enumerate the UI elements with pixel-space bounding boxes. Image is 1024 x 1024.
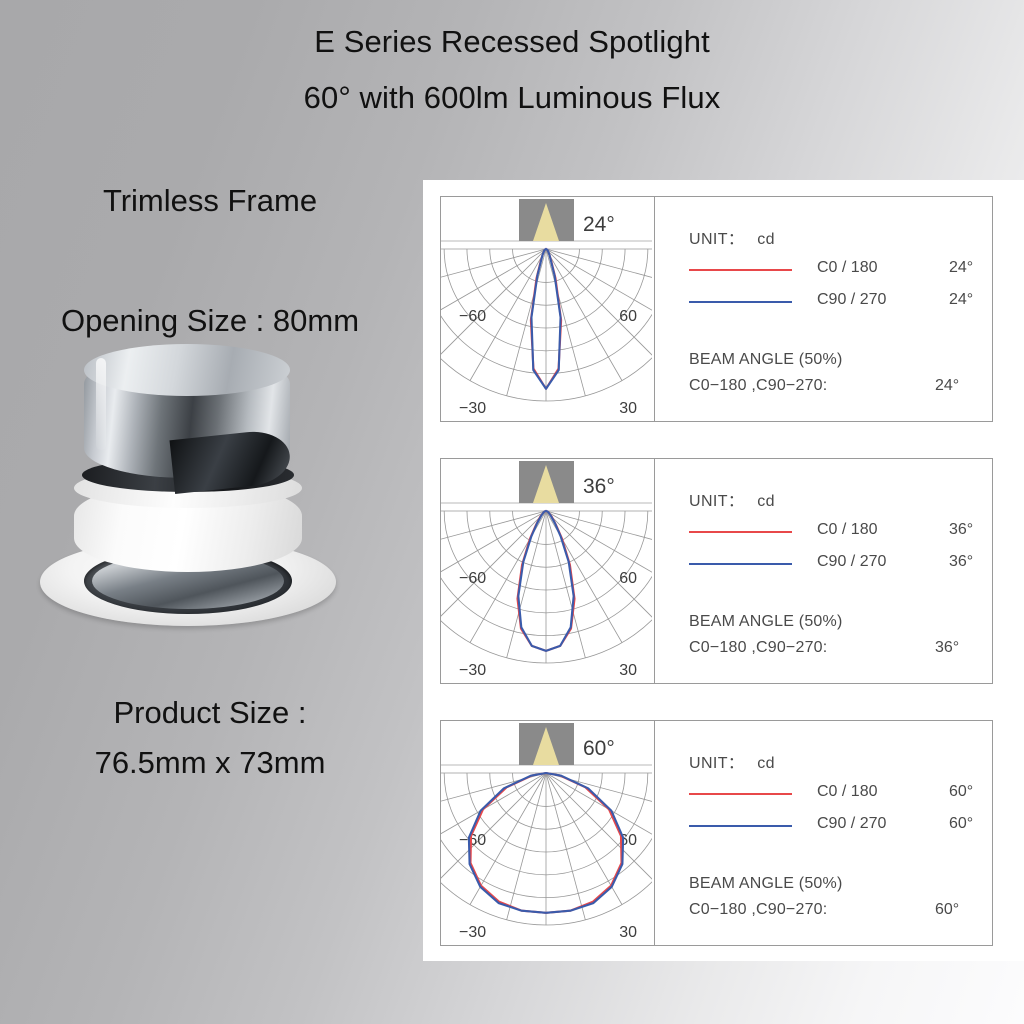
beam-angle-value: 60° [935,901,959,919]
unit-text: UNIT： [689,493,744,510]
angle-tick-label: 60 [619,308,637,325]
legend-swatch-c90-icon [689,563,792,565]
legend-swatch-c0-icon [689,531,792,533]
angle-tick-label: −30 [459,924,486,941]
unit-value: cd [757,231,775,248]
legend-value-c90: 60° [949,815,973,833]
angle-tick-label: 60 [619,570,637,587]
legend-value-c90: 24° [949,291,973,309]
panel-angle-title: 24° [583,213,615,237]
legend-swatch-c0-icon [689,793,792,795]
recessed-spotlight-photo [32,342,362,632]
chrome-highlight [96,358,106,450]
beam-angle-axes: C0−180 ,C90−270: [689,901,827,919]
legend-cell: UNIT： cd C0 / 180 24° C90 / 270 24° BEAM… [655,197,992,421]
polar-diagram-cell: −6060−3030 24° [441,197,655,421]
beam-angle-title: BEAM ANGLE (50%) [689,351,842,369]
beam-angle-title: BEAM ANGLE (50%) [689,613,842,631]
page-title: E Series Recessed Spotlight 60° with 600… [0,14,1024,126]
polar-diagram-cell: −6060−3030 60° [441,721,655,945]
product-spec-sheet: { "header": { "title_line_1": "E Series … [0,0,1024,1024]
legend-value-c0: 36° [949,521,973,539]
frame-type-label: Trimless Frame [0,180,420,222]
beam-angle-axes: C0−180 ,C90−270: [689,377,827,395]
legend-cell: UNIT： cd C0 / 180 60° C90 / 270 60° BEAM… [655,721,992,945]
legend-name-c0: C0 / 180 [817,783,877,801]
legend-name-c0: C0 / 180 [817,259,877,277]
angle-tick-label: −30 [459,400,486,417]
beam-angle-title: BEAM ANGLE (50%) [689,875,842,893]
legend-swatch-c0-icon [689,269,792,271]
legend-cell: UNIT： cd C0 / 180 36° C90 / 270 36° BEAM… [655,459,992,683]
angle-tick-label: 30 [619,662,637,679]
legend-name-c90: C90 / 270 [817,291,886,309]
photometric-panel: −6060−3030 36° UNIT： cd C0 / 180 36° C90… [440,458,993,684]
legend-swatch-c90-icon [689,301,792,303]
photometric-panel: −6060−3030 60° UNIT： cd C0 / 180 60° C90… [440,720,993,946]
beam-angle-value: 36° [935,639,959,657]
polar-diagram: −6060−3030 [441,721,652,944]
lamp-illustration [32,342,362,632]
legend-name-c90: C90 / 270 [817,815,886,833]
legend-name-c90: C90 / 270 [817,553,886,571]
left-info-column: Trimless Frame Opening Size : 80mm Produ… [0,180,420,788]
unit-text: UNIT： [689,755,744,772]
title-line-1: E Series Recessed Spotlight [0,14,1024,70]
panel-angle-title: 60° [583,737,615,761]
product-size-value: 76.5mm x 73mm [0,738,420,788]
legend-swatch-c90-icon [689,825,792,827]
panel-angle-title: 36° [583,475,615,499]
unit-label: UNIT： cd [689,749,775,773]
chrome-body-top [84,344,290,396]
unit-value: cd [757,755,775,772]
product-size-block: Product Size : 76.5mm x 73mm [0,688,420,788]
angle-tick-label: −60 [459,308,486,325]
product-size-label: Product Size : [0,688,420,738]
legend-value-c0: 60° [949,783,973,801]
polar-diagram: −6060−3030 [441,197,652,420]
unit-label: UNIT： cd [689,225,775,249]
legend-value-c0: 24° [949,259,973,277]
angle-tick-label: −30 [459,662,486,679]
unit-text: UNIT： [689,231,744,248]
beam-angle-value: 24° [935,377,959,395]
opening-size-label: Opening Size : 80mm [0,300,420,342]
photometric-panel: −6060−3030 24° UNIT： cd C0 / 180 24° C90… [440,196,993,422]
angle-tick-label: 30 [619,400,637,417]
polar-diagram: −6060−3030 [441,459,652,682]
beam-angle-axes: C0−180 ,C90−270: [689,639,827,657]
unit-value: cd [757,493,775,510]
legend-value-c90: 36° [949,553,973,571]
angle-tick-label: −60 [459,570,486,587]
legend-name-c0: C0 / 180 [817,521,877,539]
angle-tick-label: 30 [619,924,637,941]
polar-diagram-cell: −6060−3030 36° [441,459,655,683]
title-line-2: 60° with 600lm Luminous Flux [0,70,1024,126]
photometric-diagrams-card: −6060−3030 24° UNIT： cd C0 / 180 24° C90… [423,180,1024,961]
unit-label: UNIT： cd [689,487,775,511]
